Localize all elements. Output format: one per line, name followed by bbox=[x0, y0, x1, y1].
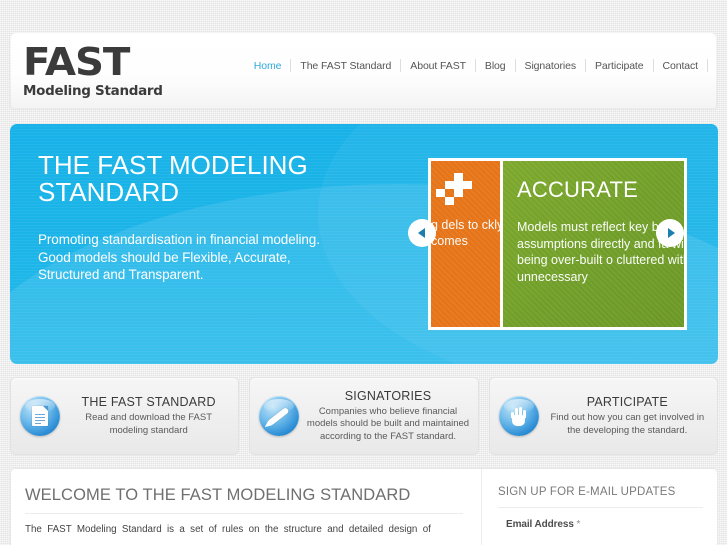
carousel-card-flexible[interactable]: g dels to ckly comes bbox=[428, 158, 500, 330]
document-glyph bbox=[32, 406, 48, 426]
feature-title: SIGNATORIES bbox=[306, 389, 469, 403]
feature-box-the-fast-standard[interactable]: THE FAST STANDARD Read and download the … bbox=[10, 377, 239, 455]
nav-separator bbox=[707, 59, 708, 72]
carousel-prev-button[interactable] bbox=[408, 219, 436, 247]
nav-item-home[interactable]: Home bbox=[245, 60, 291, 72]
site-header: FAST Modeling Standard Home The FAST Sta… bbox=[10, 33, 717, 108]
nav-item-contact[interactable]: Contact bbox=[654, 60, 708, 72]
email-label-text: Email Address bbox=[506, 519, 574, 530]
feature-description: Companies who believe financial models s… bbox=[306, 406, 469, 444]
stepped-cross-icon bbox=[441, 173, 477, 205]
feature-description: Read and download the FAST modeling stan… bbox=[67, 412, 230, 437]
signup-divider bbox=[498, 507, 703, 508]
main-column: WELCOME TO THE FAST MODELING STANDARD Th… bbox=[11, 469, 481, 545]
hand-glyph bbox=[510, 407, 527, 426]
main-navigation: Home The FAST Standard About FAST Blog S… bbox=[245, 59, 708, 72]
carousel-card-flexible-body: g dels to ckly comes bbox=[431, 217, 500, 249]
required-mark: * bbox=[577, 519, 581, 530]
feature-title: PARTICIPATE bbox=[546, 395, 709, 409]
email-field-label: Email Address * bbox=[498, 519, 703, 530]
nav-item-the-fast-standard[interactable]: The FAST Standard bbox=[291, 60, 400, 72]
chevron-right-icon bbox=[668, 228, 675, 238]
welcome-heading: WELCOME TO THE FAST MODELING STANDARD bbox=[25, 486, 463, 505]
nav-item-about-fast[interactable]: About FAST bbox=[401, 60, 475, 72]
hero-carousel: g dels to ckly comes ACCURATE Models mus… bbox=[428, 158, 684, 330]
feature-title: THE FAST STANDARD bbox=[67, 395, 230, 409]
logo-wordmark: FAST bbox=[23, 42, 193, 82]
logo-tagline: Modeling Standard bbox=[23, 83, 183, 99]
pen-glyph bbox=[269, 407, 290, 425]
pen-icon bbox=[259, 396, 299, 436]
feature-box-text: PARTICIPATE Find out how you can get inv… bbox=[539, 395, 717, 437]
welcome-paragraph: The FAST Modeling Standard is a set of r… bbox=[25, 523, 463, 537]
feature-box-participate[interactable]: PARTICIPATE Find out how you can get inv… bbox=[489, 377, 718, 455]
carousel-card-accurate-title: ACCURATE bbox=[517, 177, 638, 203]
hero-subtitle: Promoting standardisation in financial m… bbox=[38, 231, 348, 284]
hero-banner: THE FAST MODELING STANDARD Promoting sta… bbox=[10, 124, 718, 364]
site-logo[interactable]: FAST Modeling Standard bbox=[23, 42, 183, 99]
sidebar-column: SIGN UP FOR E-MAIL UPDATES Email Address… bbox=[481, 469, 717, 545]
content-area: WELCOME TO THE FAST MODELING STANDARD Th… bbox=[10, 468, 718, 545]
page-root: FAST Modeling Standard Home The FAST Sta… bbox=[0, 0, 727, 545]
chevron-left-icon bbox=[418, 228, 425, 238]
feature-box-signatories[interactable]: SIGNATORIES Companies who believe financ… bbox=[249, 377, 478, 455]
feature-description: Find out how you can get involved in the… bbox=[546, 412, 709, 437]
hand-icon bbox=[499, 396, 539, 436]
nav-item-blog[interactable]: Blog bbox=[476, 60, 515, 72]
signup-heading: SIGN UP FOR E-MAIL UPDATES bbox=[498, 486, 703, 498]
feature-boxes: THE FAST STANDARD Read and download the … bbox=[10, 377, 718, 455]
document-icon bbox=[20, 396, 60, 436]
carousel-next-button[interactable] bbox=[656, 219, 684, 247]
feature-box-text: THE FAST STANDARD Read and download the … bbox=[60, 395, 238, 437]
hero-title: THE FAST MODELING STANDARD bbox=[38, 152, 368, 206]
nav-item-signatories[interactable]: Signatories bbox=[516, 60, 585, 72]
feature-box-text: SIGNATORIES Companies who believe financ… bbox=[299, 389, 477, 444]
nav-item-participate[interactable]: Participate bbox=[586, 60, 653, 72]
card-orange-inner: g dels to ckly comes bbox=[428, 161, 500, 327]
carousel-card-accurate[interactable]: ACCURATE Models must reflect key bu assu… bbox=[500, 158, 687, 330]
heading-divider bbox=[25, 513, 463, 514]
